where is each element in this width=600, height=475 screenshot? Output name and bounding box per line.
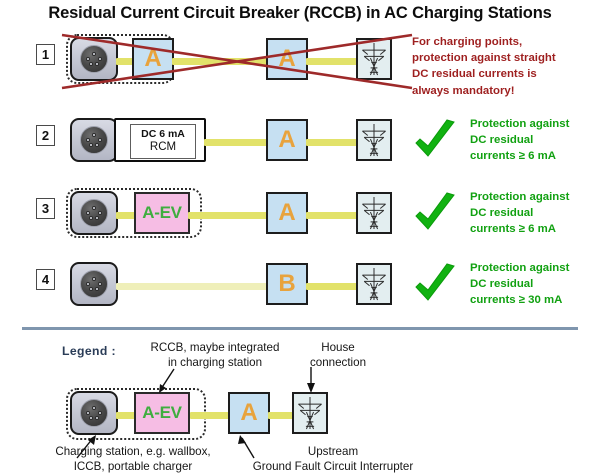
row-number-1: 1 (36, 44, 55, 65)
legend-rccb-box: A-EV (134, 392, 190, 434)
verdict-check-icon-4 (412, 263, 458, 307)
rccb-box-1: A (132, 38, 174, 80)
rccb-box-3: A-EV (134, 192, 190, 234)
wire-segment (306, 283, 358, 290)
row-number-2: 2 (36, 125, 55, 146)
ev-plug-icon (80, 126, 108, 154)
plug-pins (86, 206, 103, 221)
charging-station-icon-3 (70, 191, 118, 235)
rcm-label-block: DC 6 mA RCM (130, 124, 196, 159)
wire-segment (188, 212, 270, 219)
row-number-3: 3 (36, 198, 55, 219)
upstream-gfci-box-2: A (266, 119, 308, 161)
legend-wire-segment (268, 412, 294, 419)
wire-segment (306, 139, 358, 146)
plug-pins (86, 277, 103, 292)
scenario-row-2: 2 DC 6 mA RCM A (0, 111, 600, 173)
charging-station-icon-4 (70, 262, 118, 306)
ev-plug-icon (80, 199, 108, 227)
pylon-icon (358, 40, 390, 78)
wire-segment (116, 283, 270, 290)
charging-station-icon-1 (70, 37, 118, 81)
pylon-icon (294, 394, 326, 432)
pylon-icon (358, 194, 390, 232)
legend-arrow-rccb (150, 368, 180, 394)
upstream-gfci-box-4: B (266, 263, 308, 305)
house-connection-icon-2 (356, 119, 392, 161)
scenario-row-3: 3 A-EV A (0, 184, 600, 246)
row-number-4: 4 (36, 269, 55, 290)
rcm-module-2: DC 6 mA RCM (114, 118, 206, 162)
verdict-check-icon-2 (412, 119, 458, 163)
house-connection-icon-4 (356, 263, 392, 305)
diagram-page: Residual Current Circuit Breaker (RCCB) … (0, 0, 600, 472)
plug-pins (86, 52, 103, 67)
legend-upstream-gfci-box: A (228, 392, 270, 434)
plug-pins (86, 133, 103, 148)
legend-upstream-caption: Upstream Ground Fault Circuit Interrupte… (188, 444, 478, 475)
charging-station-icon-2 (70, 118, 118, 162)
wire-segment (306, 58, 358, 65)
upstream-gfci-box-3: A (266, 192, 308, 234)
ev-plug-icon (80, 270, 108, 298)
scenario-note-4: Protection against DC residual currents … (470, 260, 600, 309)
legend-arrow-house (302, 366, 320, 394)
green-check-icon (412, 263, 458, 307)
pylon-icon (358, 121, 390, 159)
legend-panel: Legend : RCCB, maybe integrated in charg… (0, 330, 600, 472)
green-check-icon (412, 119, 458, 163)
house-connection-icon-3 (356, 192, 392, 234)
legend-house-connection-icon (292, 392, 328, 434)
scenario-row-4: 4 B (0, 255, 600, 317)
plug-pins (86, 406, 103, 421)
wire-segment (172, 58, 270, 65)
upstream-gfci-box-1: A (266, 38, 308, 80)
scenario-row-1: 1 A A (0, 30, 600, 92)
page-title: Residual Current Circuit Breaker (RCCB) … (0, 4, 600, 23)
legend-charging-station-icon (70, 391, 118, 435)
scenario-note-3: Protection against DC residual currents … (470, 189, 600, 238)
house-connection-icon-1 (356, 38, 392, 80)
verdict-check-icon-3 (412, 192, 458, 236)
wire-segment (306, 212, 358, 219)
scenario-note-1: For charging points, protection against … (412, 34, 592, 99)
legend-house-caption: House connection (278, 340, 398, 371)
pylon-icon (358, 265, 390, 303)
green-check-icon (412, 192, 458, 236)
legend-wire-segment (190, 412, 230, 419)
rcm-line2: RCM (150, 141, 176, 154)
ev-plug-icon (80, 45, 108, 73)
scenario-note-2: Protection against DC residual currents … (470, 116, 600, 165)
legend-title: Legend : (62, 344, 116, 358)
wire-segment (204, 139, 270, 146)
rcm-line1: DC 6 mA (141, 129, 185, 141)
ev-plug-icon (80, 399, 108, 427)
